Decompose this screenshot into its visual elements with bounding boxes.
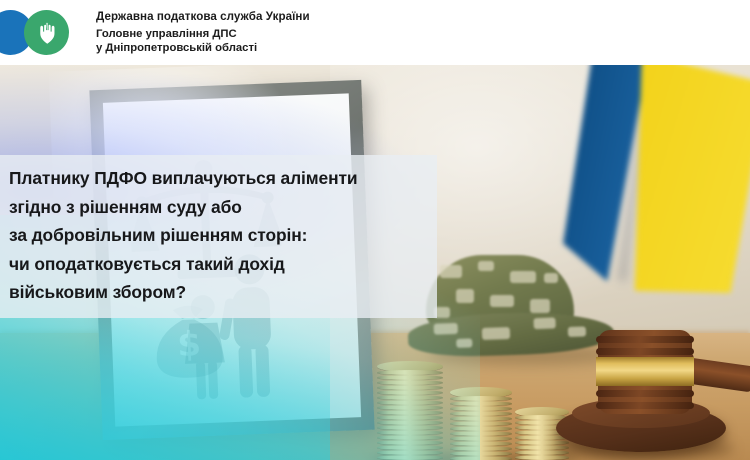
- header-text-block: Державна податкова служба України Головн…: [96, 9, 736, 55]
- gavel-gold-band: [596, 357, 694, 386]
- judge-gavel: [556, 312, 750, 457]
- agency-logo: [0, 10, 93, 55]
- gavel-ring: [596, 402, 694, 409]
- gavel-ring: [596, 336, 694, 343]
- gavel-ring: [596, 390, 694, 397]
- agency-title: Державна податкова служба України: [96, 9, 736, 24]
- agency-subtitle: Головне управління ДПС у Дніпропетровськ…: [96, 28, 736, 55]
- ukrainian-trident-icon: [24, 10, 69, 55]
- headline-text: Платнику ПДФО виплачуються аліменти згід…: [9, 164, 437, 307]
- site-header: Державна податкова служба України Головн…: [0, 0, 750, 65]
- headline-overlay: Платнику ПДФО виплачуються аліменти згід…: [0, 155, 437, 318]
- gavel-ring: [596, 348, 694, 355]
- banner-page: Державна податкова служба України Головн…: [0, 0, 750, 460]
